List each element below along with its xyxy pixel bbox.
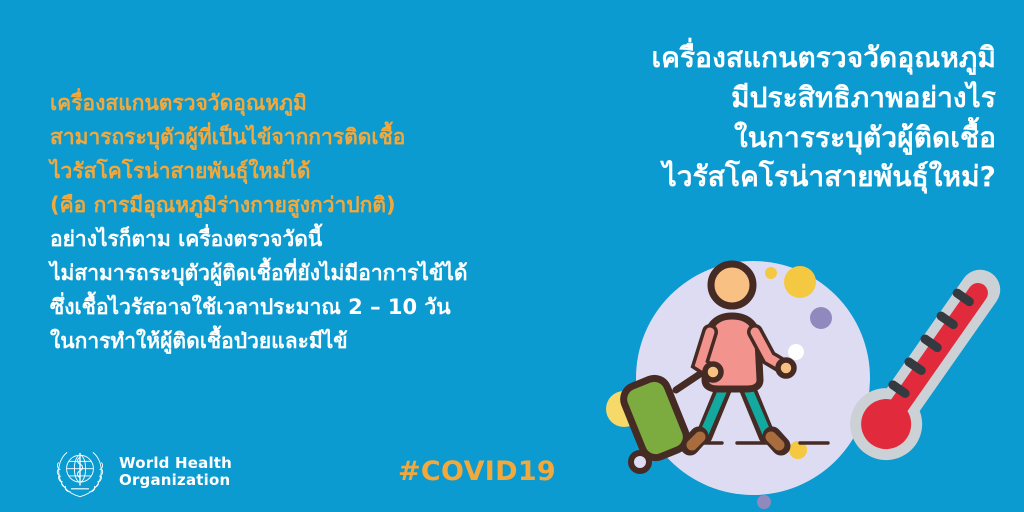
headline-line-3: ในการระบุตัวผู้ติดเชื้อ: [526, 118, 996, 158]
headline-line-4: ไวรัสโคโรน่าสายพันธุ์ใหม่?: [526, 157, 996, 197]
who-covid19-infographic: เครื่องสแกนตรวจวัดอุณหภูมิ มีประสิทธิภาพ…: [0, 0, 1024, 512]
headline-line-1: เครื่องสแกนตรวจวัดอุณหภูมิ: [526, 38, 996, 78]
body-line-5: อย่างไรก็ตาม เครื่องตรวจวัดนี้: [50, 222, 550, 256]
body-copy: เครื่องสแกนตรวจวัดอุณหภูมิ สามารถระบุตัว…: [50, 86, 550, 358]
dot-yellow-large: [784, 266, 816, 298]
hashtag-covid19: #COVID19: [398, 456, 556, 487]
figure-hand-right: [778, 360, 794, 376]
dot-white: [788, 344, 804, 360]
who-logo: World Health Organization: [52, 444, 232, 500]
dot-purple-small: [757, 495, 771, 509]
who-wordmark-line-1: World Health: [119, 455, 232, 472]
who-wordmark-line-2: Organization: [119, 472, 232, 489]
body-line-6: ไม่สามารถระบุตัวผู้ติดเชื้อที่ยังไม่มีอา…: [50, 256, 550, 290]
body-line-2: สามารถระบุตัวผู้ที่เป็นไข้จากการติดเชื้อ: [50, 120, 550, 154]
figure-head: [711, 264, 753, 306]
body-line-1: เครื่องสแกนตรวจวัดอุณหภูมิ: [50, 86, 550, 120]
body-line-3: ไวรัสโคโรน่าสายพันธุ์ใหม่ได้: [50, 154, 550, 188]
dot-yellow-small-top: [765, 267, 777, 279]
illustration: [604, 240, 1024, 512]
who-wordmark: World Health Organization: [119, 455, 232, 490]
body-line-4: (คือ การมีอุณหภูมิร่างกายสูงกว่าปกติ): [50, 188, 550, 222]
figure-hand-left: [705, 364, 721, 380]
headline: เครื่องสแกนตรวจวัดอุณหภูมิ มีประสิทธิภาพ…: [526, 38, 996, 197]
headline-line-2: มีประสิทธิภาพอย่างไร: [526, 78, 996, 118]
dot-purple: [810, 307, 832, 329]
who-emblem-icon: [52, 444, 108, 500]
body-line-7: ซึ่งเชื้อไวรัสอาจใช้เวลาประมาณ 2 – 10 วั…: [50, 290, 550, 324]
body-line-8: ในการทำให้ผู้ติดเชื้อป่วยและมีไข้: [50, 324, 550, 358]
illustration-svg: [604, 240, 1024, 512]
